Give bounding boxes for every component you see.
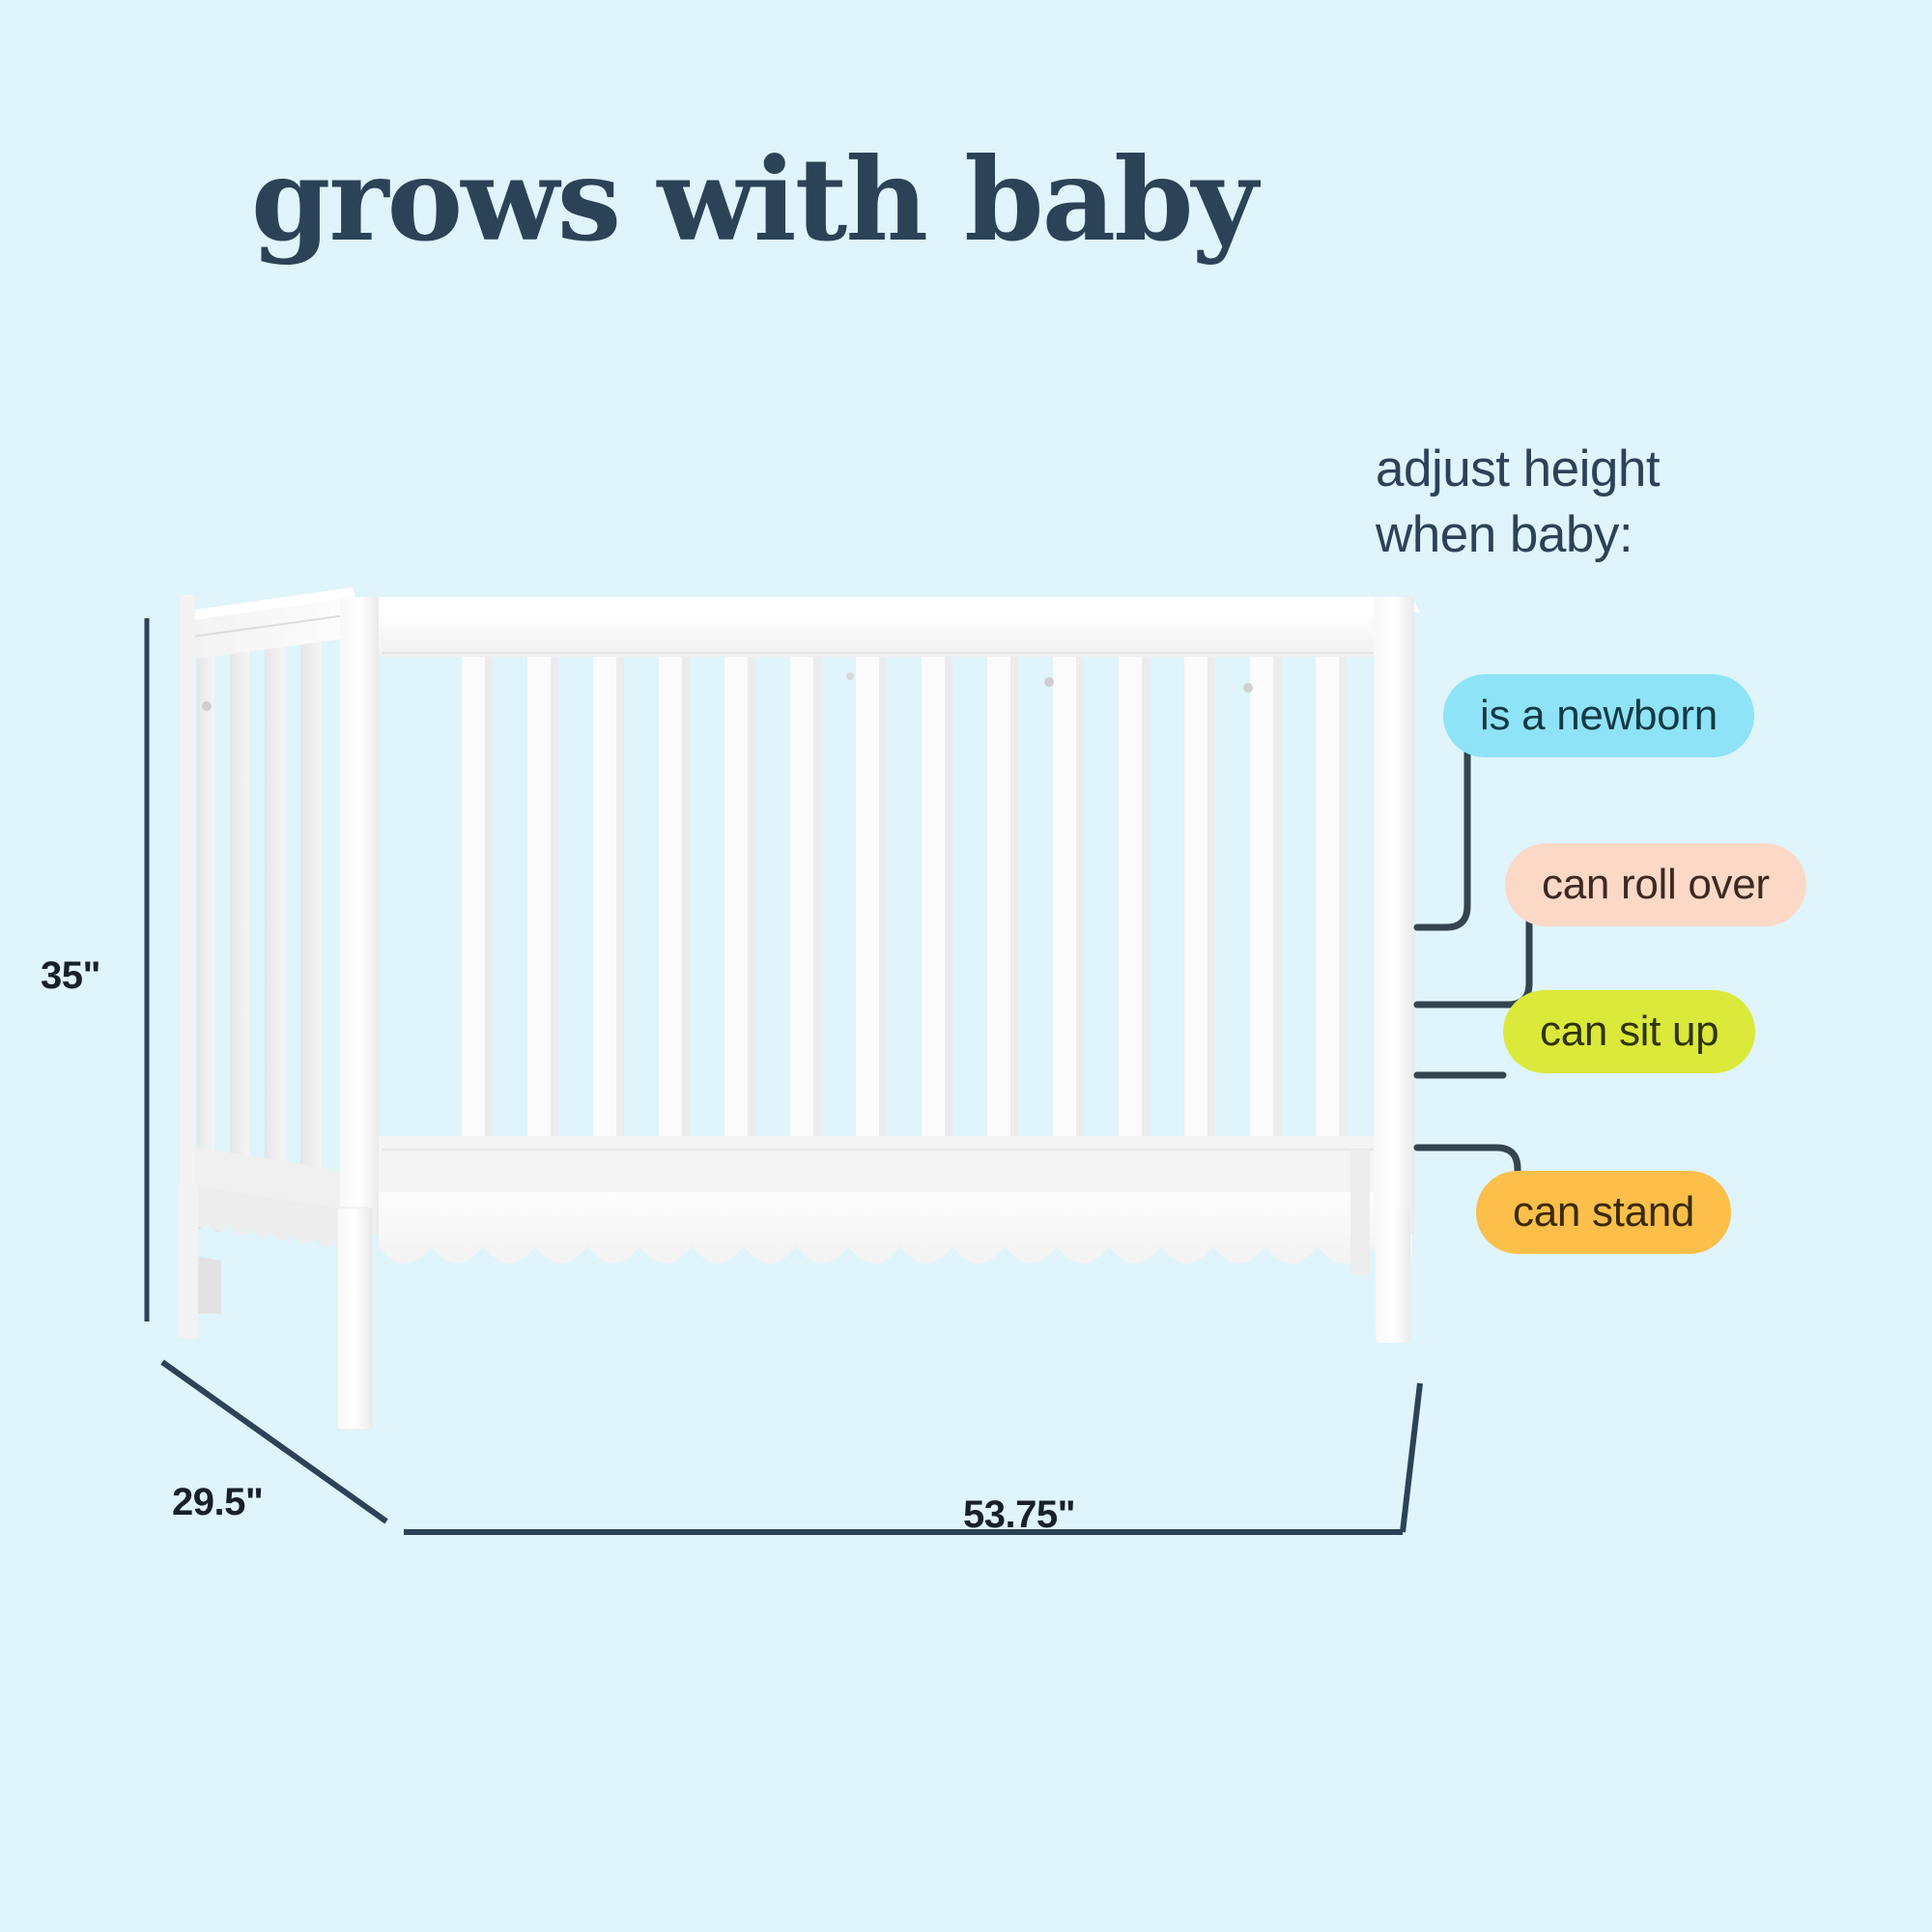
height-dimension-label: 35": [41, 954, 100, 998]
milestone-pill-sit-up[interactable]: can sit up: [1503, 990, 1755, 1073]
adjust-height-heading-line1: adjust height: [1376, 437, 1791, 502]
crib-illustration: [0, 0, 1932, 1932]
milestone-pill-roll-over[interactable]: can roll over: [1505, 843, 1806, 926]
depth-dimension-label: 29.5": [172, 1481, 263, 1524]
infographic-canvas: grows with baby: [0, 0, 1932, 1932]
milestone-pill-newborn[interactable]: is a newborn: [1443, 674, 1754, 757]
milestone-pill-stand[interactable]: can stand: [1476, 1171, 1731, 1254]
milestone-label-sit-up: can sit up: [1540, 1008, 1719, 1056]
adjust-height-heading-line2: when baby:: [1376, 502, 1791, 568]
width-dimension-label: 53.75": [963, 1493, 1075, 1537]
milestone-label-roll-over: can roll over: [1542, 861, 1770, 909]
adjust-height-heading: adjust height when baby:: [1376, 437, 1791, 568]
milestone-label-stand: can stand: [1513, 1188, 1694, 1236]
milestone-label-newborn: is a newborn: [1480, 692, 1718, 740]
